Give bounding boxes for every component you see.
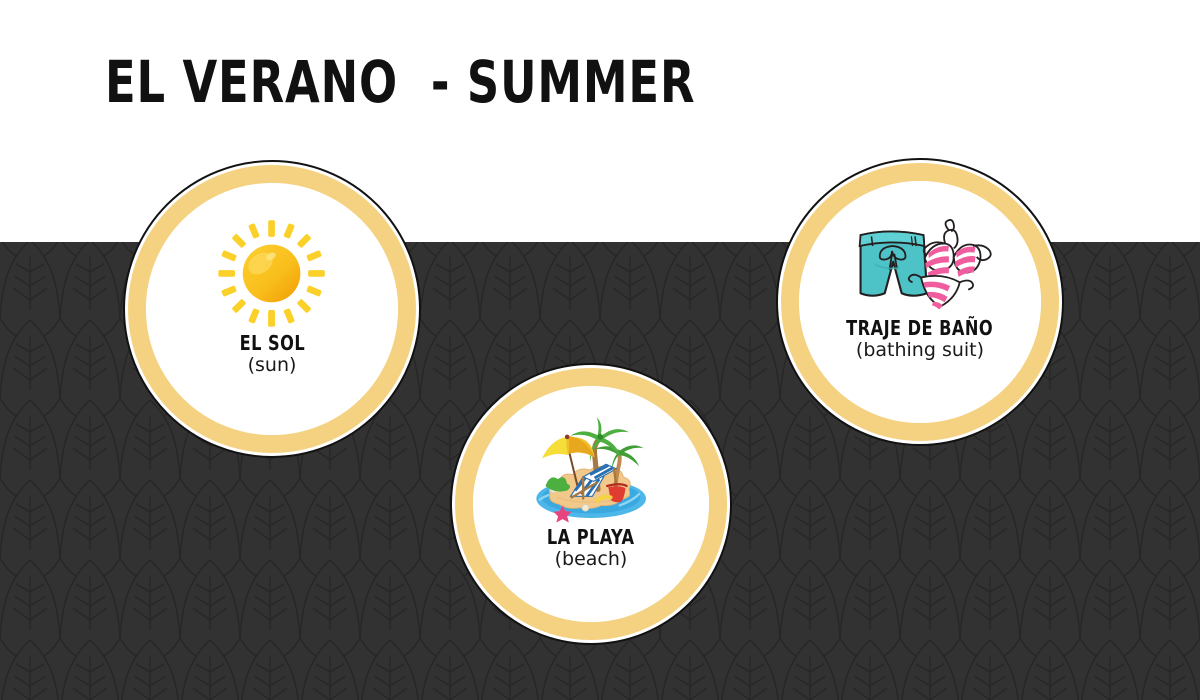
flashcard-page: EL VERANO - SUMMER	[0, 0, 1200, 700]
card-inner: EL SOL (sun)	[146, 183, 398, 435]
card-term: EL SOL	[239, 333, 304, 354]
card-translation: (beach)	[542, 550, 639, 570]
vocab-card-sun[interactable]: EL SOL (sun)	[123, 160, 421, 458]
page-title: EL VERANO - SUMMER	[105, 48, 695, 116]
vocab-card-beach[interactable]: LA PLAYA (beach)	[450, 363, 732, 645]
beach-island-icon	[518, 414, 664, 523]
card-term: TRAJE DE BAÑO	[847, 318, 994, 339]
card-labels: LA PLAYA (beach)	[542, 527, 639, 570]
card-labels: EL SOL (sun)	[236, 333, 309, 376]
card-inner: TRAJE DE BAÑO (bathing suit)	[799, 181, 1041, 423]
bathing-suit-icon	[843, 217, 998, 314]
card-term: LA PLAYA	[547, 527, 635, 548]
sun-icon	[201, 218, 342, 329]
card-translation: (sun)	[236, 356, 309, 376]
card-labels: TRAJE DE BAÑO (bathing suit)	[838, 318, 1001, 361]
card-inner: LA PLAYA (beach)	[473, 386, 709, 622]
card-translation: (bathing suit)	[838, 341, 1001, 361]
vocab-card-bathing-suit[interactable]: TRAJE DE BAÑO (bathing suit)	[776, 158, 1064, 446]
